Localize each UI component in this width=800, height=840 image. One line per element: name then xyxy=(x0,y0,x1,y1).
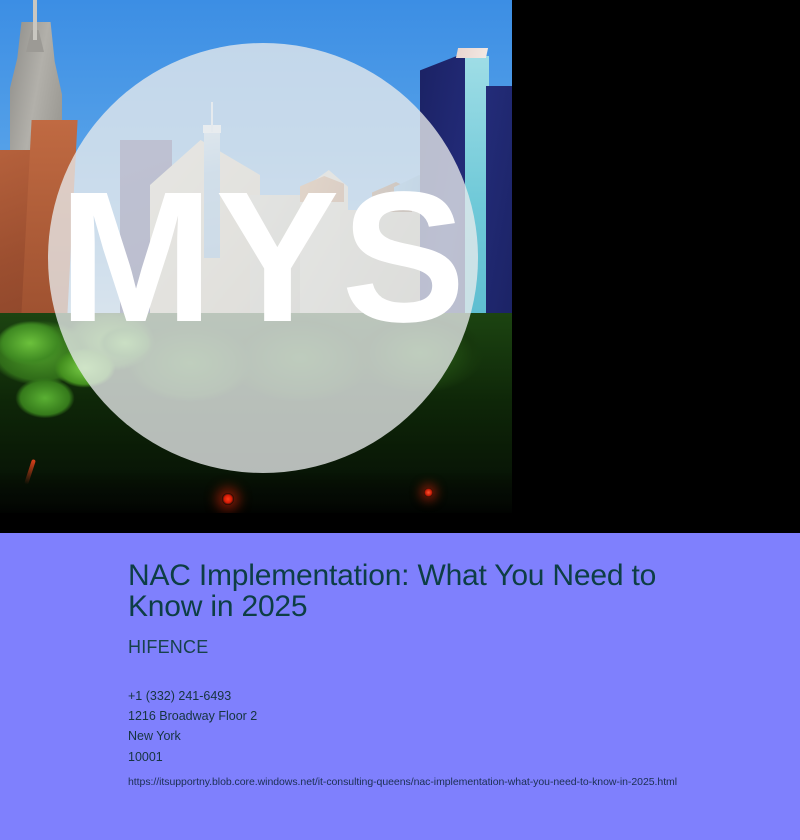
black-divider xyxy=(0,513,800,533)
source-url[interactable]: https://itsupportny.blob.core.windows.ne… xyxy=(128,776,728,788)
traffic-light-secondary-icon xyxy=(424,488,433,497)
contact-block: +1 (332) 241-6493 1216 Broadway Floor 2 … xyxy=(128,686,728,767)
badge-label: MYS xyxy=(48,43,478,473)
antenna-spire xyxy=(33,0,37,40)
foreground-shadow xyxy=(0,473,512,513)
page-title: NAC Implementation: What You Need to Kno… xyxy=(128,561,728,623)
info-panel-content: NAC Implementation: What You Need to Kno… xyxy=(128,561,728,788)
contact-street: 1216 Broadway Floor 2 xyxy=(128,706,728,726)
contact-city: New York xyxy=(128,726,728,746)
info-panel: NAC Implementation: What You Need to Kno… xyxy=(0,533,800,840)
brand-name: HIFENCE xyxy=(128,637,728,658)
contact-zip: 10001 xyxy=(128,747,728,767)
traffic-light-icon xyxy=(222,493,234,505)
contact-phone: +1 (332) 241-6493 xyxy=(128,686,728,706)
page-root: MYS NAC Implementation: What You Need to… xyxy=(0,0,800,840)
hero-image: MYS xyxy=(0,0,512,513)
